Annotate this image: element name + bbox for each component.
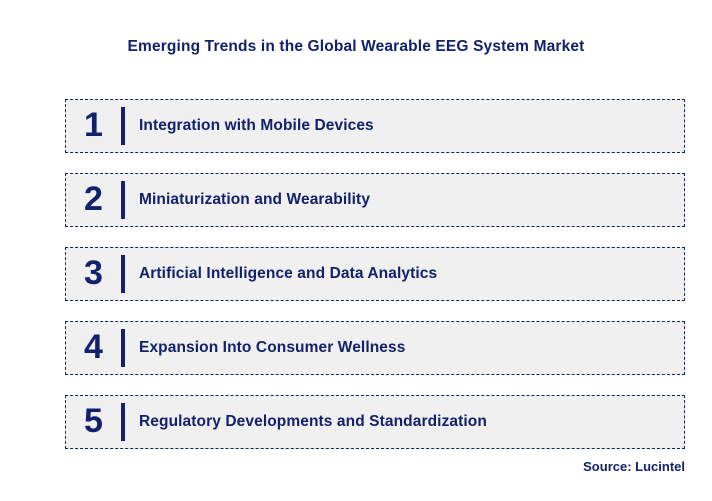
- source-attribution: Source: Lucintel: [583, 459, 685, 474]
- trend-row[interactable]: 3 Artificial Intelligence and Data Analy…: [65, 247, 685, 301]
- trend-rank-number: 2: [84, 182, 103, 218]
- trend-rank-number: 4: [84, 330, 103, 366]
- trend-row[interactable]: 5 Regulatory Developments and Standardiz…: [65, 395, 685, 449]
- trend-rank-container: 3: [66, 248, 121, 300]
- trend-rank-number: 5: [84, 404, 103, 440]
- trend-label: Expansion Into Consumer Wellness: [125, 339, 684, 357]
- trend-label: Artificial Intelligence and Data Analyti…: [125, 265, 684, 283]
- trend-rank-number: 1: [84, 108, 103, 144]
- trend-label: Miniaturization and Wearability: [125, 191, 684, 209]
- trend-row[interactable]: 1 Integration with Mobile Devices: [65, 99, 685, 153]
- trend-row[interactable]: 4 Expansion Into Consumer Wellness: [65, 321, 685, 375]
- trend-rank-number: 3: [84, 256, 103, 292]
- trend-rank-container: 1: [66, 100, 121, 152]
- trend-row[interactable]: 2 Miniaturization and Wearability: [65, 173, 685, 227]
- page-title: Emerging Trends in the Global Wearable E…: [0, 38, 712, 56]
- infographic-page: Emerging Trends in the Global Wearable E…: [0, 0, 712, 501]
- trend-rank-container: 4: [66, 322, 121, 374]
- trend-rank-container: 5: [66, 396, 121, 448]
- trend-list: 1 Integration with Mobile Devices 2 Mini…: [65, 99, 685, 449]
- trend-rank-container: 2: [66, 174, 121, 226]
- trend-label: Integration with Mobile Devices: [125, 117, 684, 135]
- trend-label: Regulatory Developments and Standardizat…: [125, 413, 684, 431]
